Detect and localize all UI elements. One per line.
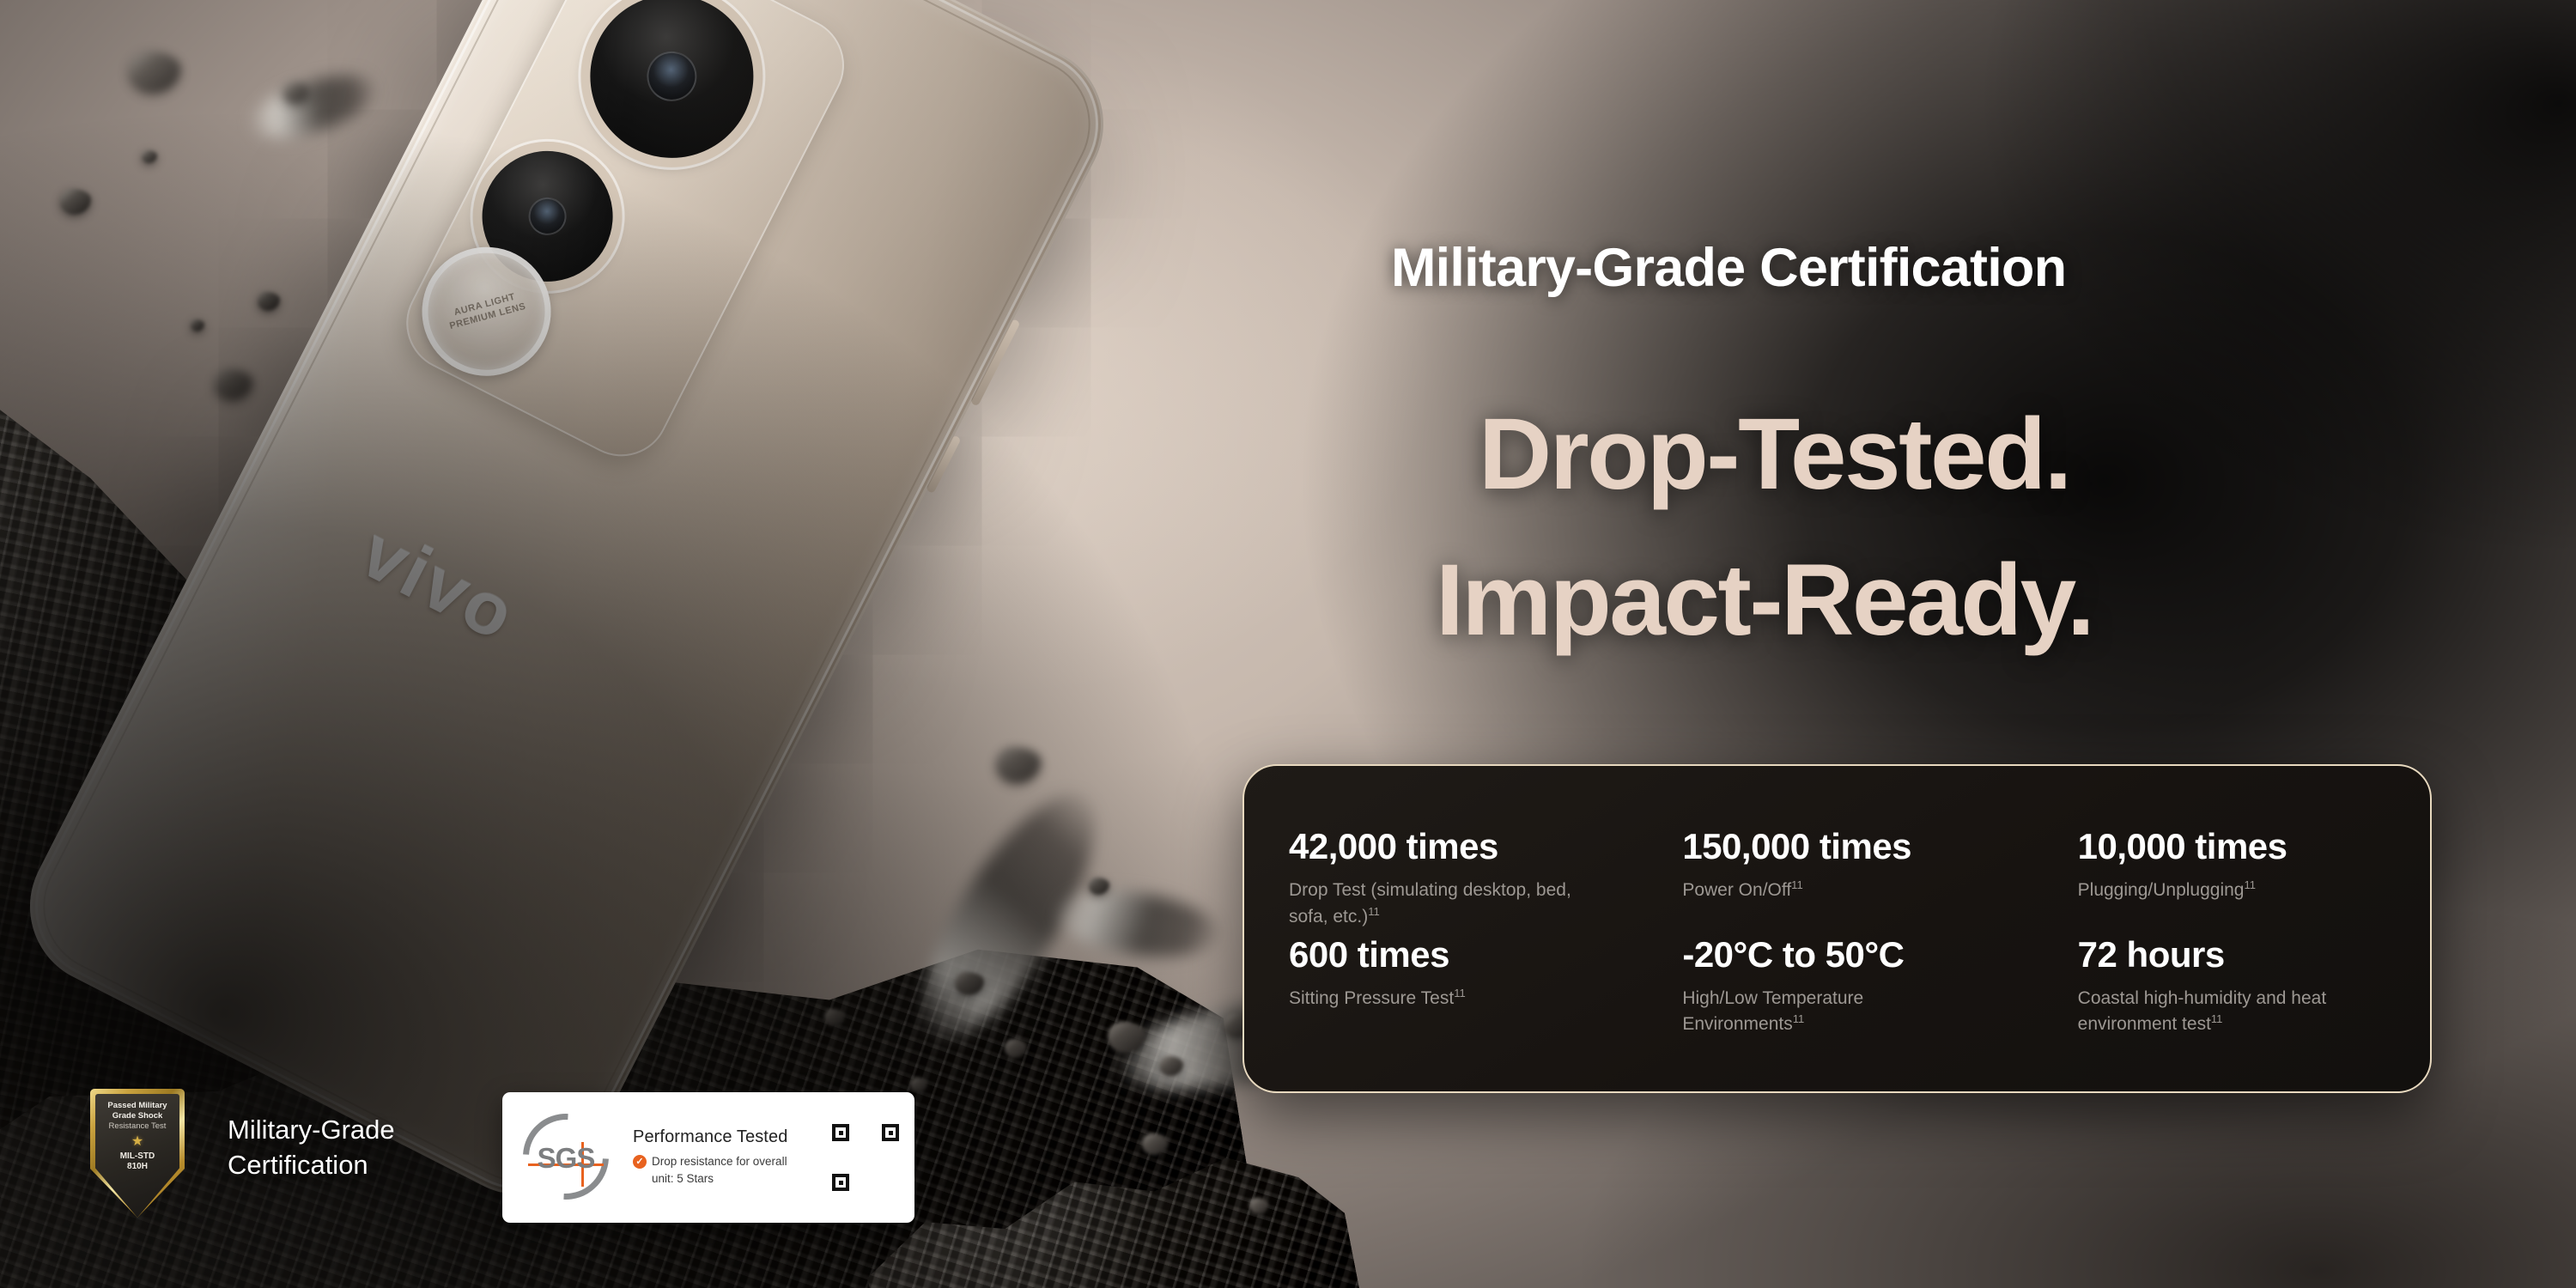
qr-eye-top-left — [832, 1124, 849, 1141]
sgs-title: Performance Tested — [633, 1127, 827, 1147]
badge-line-2: Grade Shock — [112, 1111, 163, 1121]
spec-value: 10,000 times — [2078, 828, 2430, 866]
spec-item: 150,000 times Power On/Off11 — [1639, 828, 2034, 936]
spec-item: 10,000 times Plugging/Unplugging11 — [2035, 828, 2430, 936]
spec-footnote: 11 — [1454, 987, 1466, 999]
badge-line-1: Passed Military — [107, 1101, 167, 1111]
spec-label-text: Power On/Off — [1682, 880, 1791, 900]
qr-eye-top-right — [882, 1124, 899, 1141]
spec-value: 42,000 times — [1289, 828, 1639, 866]
spec-value: 150,000 times — [1682, 828, 2034, 866]
sgs-wordmark: SGS — [538, 1142, 595, 1175]
badge-standard-line-2: 810H — [127, 1162, 148, 1172]
spec-label: Drop Test (simulating desktop, bed, sofa… — [1289, 878, 1572, 930]
spec-value: 72 hours — [2078, 936, 2430, 974]
debris-pebble — [996, 747, 1041, 783]
shield-inner: Passed Military Grade Shock Resistance T… — [95, 1094, 179, 1218]
debris-pebble — [60, 189, 91, 215]
mil-caption-line-1: Military-Grade — [228, 1112, 511, 1147]
debris-pebble — [142, 150, 157, 163]
spec-footnote: 11 — [1791, 878, 1803, 891]
spec-item: 42,000 times Drop Test (simulating deskt… — [1244, 828, 1639, 936]
page-title: Military-Grade Certification — [1391, 237, 2066, 299]
sgs-detail-line-1: Drop resistance for overall — [652, 1153, 787, 1170]
spec-label: Coastal high-humidity and heat environme… — [2078, 986, 2361, 1038]
sgs-logo-icon: SGS — [518, 1109, 614, 1206]
spec-label-text: Sitting Pressure Test — [1289, 988, 1454, 1008]
debris-streak — [245, 63, 383, 150]
spec-footnote: 11 — [2211, 1012, 2223, 1025]
debris-pebble — [129, 52, 180, 93]
badge-standard-line-1: MIL-STD — [120, 1151, 155, 1162]
sgs-detail-line-2: unit: 5 Stars — [652, 1170, 787, 1188]
promo-banner: AURA LIGHT PREMIUM LENS vivo Military-Gr… — [0, 0, 2576, 1288]
mil-caption-line-2: Certification — [228, 1147, 511, 1182]
sgs-certificate-card: SGS Performance Tested ✓ Drop resistance… — [502, 1092, 914, 1223]
qr-code-icon — [832, 1124, 899, 1191]
spec-card: 42,000 times Drop Test (simulating deskt… — [1242, 764, 2432, 1093]
check-circle-icon: ✓ — [633, 1155, 647, 1169]
spec-value: -20°C to 50°C — [1682, 936, 2034, 974]
spec-item: -20°C to 50°C High/Low Temperature Envir… — [1639, 936, 2034, 1044]
spec-label-text: Plugging/Unplugging — [2078, 880, 2245, 900]
mil-badge-caption: Military-Grade Certification — [228, 1112, 511, 1182]
spec-item: 72 hours Coastal high-humidity and heat … — [2035, 936, 2430, 1044]
spec-item: 600 times Sitting Pressure Test11 — [1244, 936, 1639, 1044]
debris-pebble — [215, 369, 252, 400]
spec-label-text: Drop Test (simulating desktop, bed, sofa… — [1289, 880, 1571, 926]
mil-std-shield-badge: Passed Military Grade Shock Resistance T… — [90, 1089, 185, 1218]
spec-footnote: 11 — [1793, 1012, 1805, 1025]
debris-streak — [1053, 882, 1223, 966]
sgs-text-block: Performance Tested ✓ Drop resistance for… — [614, 1127, 827, 1188]
spec-footnote: 11 — [2244, 878, 2256, 891]
spec-label: Power On/Off11 — [1682, 878, 1965, 903]
badge-line-3: Resistance Test — [109, 1121, 167, 1132]
spec-value: 600 times — [1289, 936, 1639, 974]
debris-pebble — [258, 292, 280, 311]
display-headline-line-2: Impact-Ready. — [1436, 550, 2093, 651]
sgs-detail-text: Drop resistance for overall unit: 5 Star… — [647, 1153, 787, 1188]
display-headline-line-1: Drop-Tested. — [1479, 404, 2070, 505]
spec-label: High/Low Temperature Environments11 — [1682, 986, 1965, 1038]
debris-pebble — [191, 319, 204, 331]
spec-label: Sitting Pressure Test11 — [1289, 986, 1572, 1012]
qr-eye-bottom-left — [832, 1174, 849, 1191]
spec-footnote: 11 — [1368, 905, 1380, 918]
spec-label-text: Coastal high-humidity and heat environme… — [2078, 988, 2327, 1034]
sgs-detail-row: ✓ Drop resistance for overall unit: 5 St… — [633, 1153, 827, 1188]
spec-label-text: High/Low Temperature Environments — [1682, 988, 1863, 1034]
spec-label: Plugging/Unplugging11 — [2078, 878, 2361, 903]
star-icon: ★ — [131, 1135, 143, 1149]
